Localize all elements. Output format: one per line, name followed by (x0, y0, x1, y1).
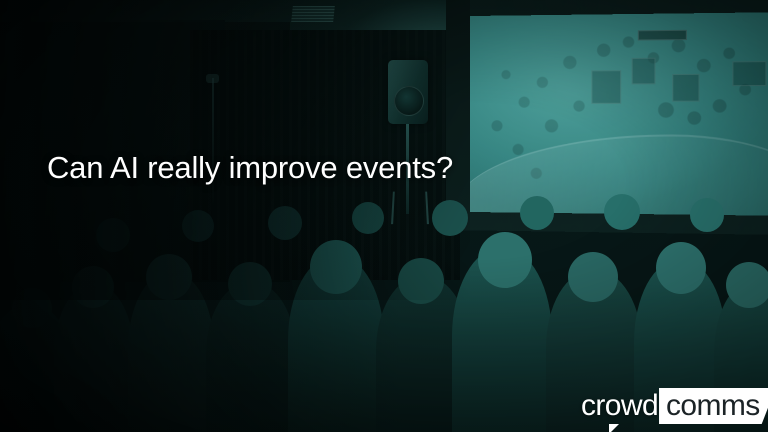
logo-word-comms: comms (666, 391, 760, 421)
speech-bubble-tail-icon (609, 424, 619, 432)
audience-head (520, 196, 554, 230)
audience-head (96, 218, 130, 252)
audience-head (228, 262, 272, 306)
audience-head (726, 262, 768, 308)
mic-stand (212, 78, 214, 208)
audience-head (690, 198, 724, 232)
audience-head (656, 242, 706, 294)
mic-head (206, 74, 219, 83)
promo-slide: Can AI really improve events? crowd comm… (0, 0, 768, 432)
audience-head (398, 258, 444, 304)
audience-head (72, 266, 114, 308)
audience-head (310, 240, 362, 294)
audience-head (352, 202, 384, 234)
audience-head (12, 288, 52, 328)
audience-head (146, 254, 192, 300)
audience-head (268, 206, 302, 240)
audience-head (568, 252, 618, 302)
speech-bubble-icon: comms (659, 388, 768, 424)
ceiling-vent-icon (291, 6, 335, 22)
pa-speaker-cone (394, 86, 424, 116)
audience-head (604, 194, 640, 230)
background-photo (0, 0, 768, 432)
page-title: Can AI really improve events? (47, 150, 517, 186)
logo-word-crowd: crowd (581, 391, 658, 421)
audience-head (182, 210, 214, 242)
audience-head (432, 200, 468, 236)
crowdcomms-logo[interactable]: crowd comms (581, 387, 768, 425)
audience-head (478, 232, 532, 288)
